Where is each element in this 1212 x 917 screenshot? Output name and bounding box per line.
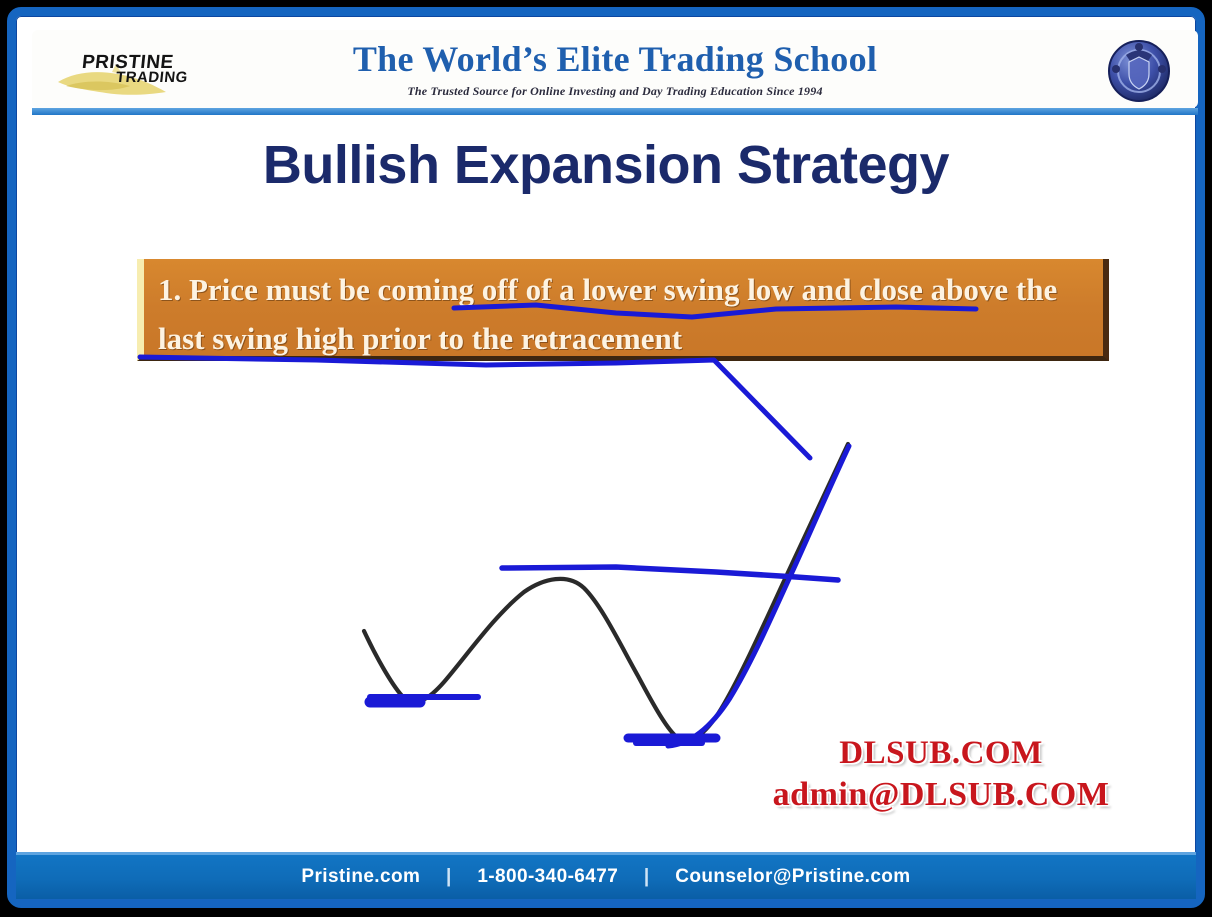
footer-phone: 1-800-340-6477	[477, 866, 618, 887]
header-divider	[32, 108, 1198, 115]
footer-contact-bar: Pristine.com | 1-800-340-6477 | Counselo…	[301, 866, 910, 888]
rule-callout-box: 1. Price must be coming off of a lower s…	[137, 259, 1109, 361]
footer-email[interactable]: Counselor@Pristine.com	[675, 866, 910, 887]
watermark-site: DLSUB.COM	[706, 732, 1176, 774]
slide-frame: PRISTINE TRADING The World’s Elite Tradi…	[7, 7, 1205, 908]
header-subtitle: The Trusted Source for Online Investing …	[32, 84, 1198, 99]
callout-pointer-line	[140, 357, 810, 458]
slide-header: PRISTINE TRADING The World’s Elite Tradi…	[32, 30, 1198, 108]
footer-separator-2: |	[644, 866, 650, 888]
watermark-email: admin@DLSUB.COM	[706, 774, 1176, 816]
rule-callout-text: 1. Price must be coming off of a lower s…	[158, 265, 1091, 363]
pristine-crest-icon	[1104, 35, 1174, 105]
footer-separator-1: |	[446, 866, 452, 888]
swing-low-2-marker	[628, 738, 716, 743]
expansion-breakout-ink-curve	[668, 446, 849, 746]
slide-title: Bullish Expansion Strategy	[16, 134, 1196, 196]
price-action-curve	[364, 444, 848, 740]
swing-low-1-marker	[370, 697, 478, 702]
swing-high-line	[502, 567, 838, 580]
slide-footer: Pristine.com | 1-800-340-6477 | Counselo…	[16, 852, 1196, 899]
header-title: The World’s Elite Trading School	[32, 38, 1198, 80]
watermark: DLSUB.COM admin@DLSUB.COM	[706, 732, 1176, 816]
footer-website[interactable]: Pristine.com	[301, 866, 420, 887]
slide-root: PRISTINE TRADING The World’s Elite Tradi…	[0, 0, 1212, 915]
